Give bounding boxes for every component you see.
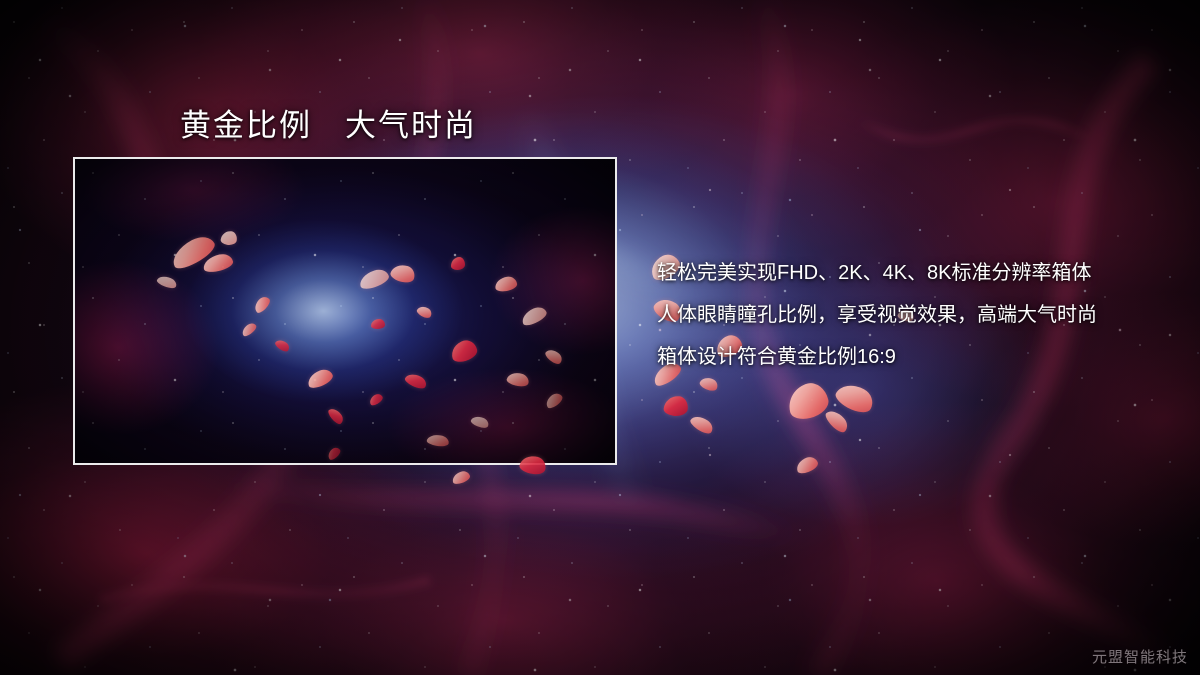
body-copy-line: 箱体设计符合黄金比例16:9 [657, 336, 1177, 378]
page-title: 黄金比例 大气时尚 [180, 100, 477, 145]
preview-vignette [75, 159, 615, 463]
presentation-slide: 黄金比例 大气时尚 轻松完美实现FHD、2K、4K、8K标准分辨率箱体人体眼睛瞳… [0, 0, 1200, 675]
body-copy-block: 轻松完美实现FHD、2K、4K、8K标准分辨率箱体人体眼睛瞳孔比例，享受视觉效果… [657, 252, 1177, 378]
flower-petal [451, 469, 472, 485]
watermark: 元盟智能科技 [1092, 646, 1188, 667]
body-copy-line: 人体眼睛瞳孔比例，享受视觉效果，高端大气时尚 [657, 294, 1177, 336]
flower-petal [784, 380, 831, 423]
flower-petal [823, 407, 851, 436]
flower-petal [688, 412, 715, 436]
flower-petal [663, 395, 689, 417]
flower-petal [833, 378, 878, 417]
body-copy-line: 轻松完美实现FHD、2K、4K、8K标准分辨率箱体 [657, 252, 1177, 294]
preview-image-frame [73, 157, 617, 465]
flower-petal [794, 455, 819, 476]
